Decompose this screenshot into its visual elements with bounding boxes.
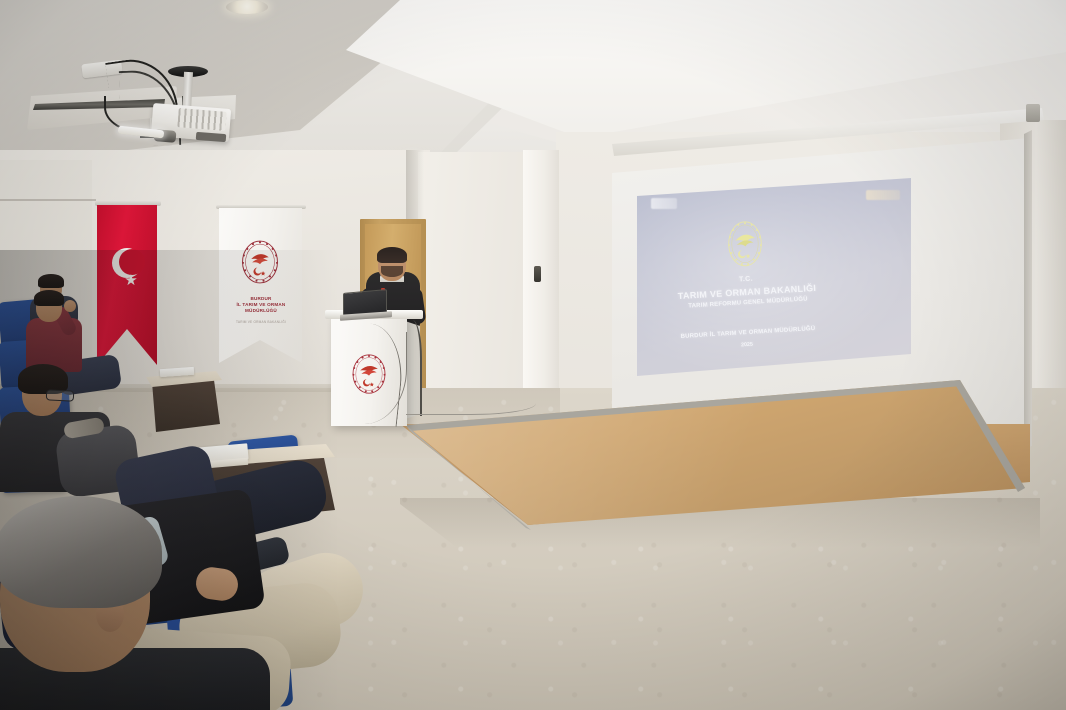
presenter-beard	[381, 266, 403, 277]
attendee-hair	[34, 290, 64, 306]
star-icon: ★	[124, 274, 138, 288]
wall-outlet-icon[interactable]	[534, 266, 541, 282]
ministry-wordmark-logo-icon	[651, 198, 677, 209]
table-base	[152, 380, 220, 432]
downlight-icon	[226, 0, 268, 14]
banner-title: BURDUR İL TARIM VE ORMAN MÜDÜRLÜĞÜ	[222, 296, 300, 314]
projector-vent	[177, 108, 226, 131]
turkiye-yuzyili-logo-icon	[866, 190, 900, 200]
seminar-room-photo: ★ BURDUR İL TARIM VE ORMAN MÜDÜRLÜĞÜ TAR…	[0, 0, 1066, 710]
wall-middle	[418, 152, 538, 422]
floor-cable	[406, 392, 536, 415]
wall-trim-line	[0, 199, 96, 201]
presenter-hair	[377, 247, 407, 263]
attendee-hair	[0, 496, 162, 608]
ministry-emblem-icon	[236, 238, 284, 286]
attendee-hand	[64, 300, 76, 312]
eyeglasses-icon	[46, 389, 75, 401]
projection-screen-bracket	[1026, 104, 1040, 122]
attendee-hair	[38, 274, 64, 288]
banner-subtitle: TARIM VE ORMAN BAKANLIĞI	[222, 320, 300, 324]
slide-ministry-emblem-icon	[723, 218, 767, 270]
